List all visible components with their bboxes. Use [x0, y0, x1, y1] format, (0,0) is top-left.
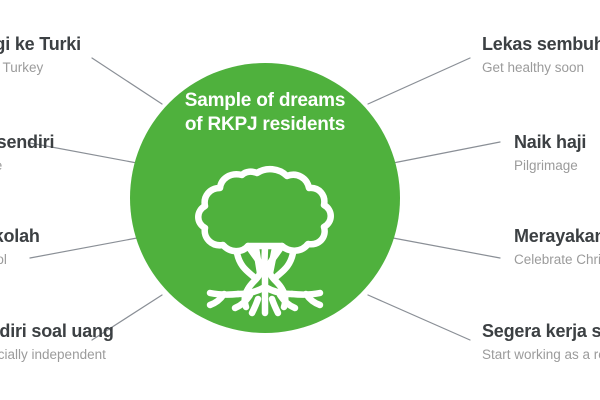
label-gloss: Go to Turkey	[0, 58, 81, 78]
label-gloss: Get healthy soon	[482, 58, 600, 78]
spoke-left-3	[30, 238, 137, 258]
label-right-1: Lekas sembuh Get healthy soon	[482, 33, 600, 78]
spoke-right-3	[393, 238, 500, 258]
label-left-3: Anak-anak sekolah Children go to school	[0, 225, 40, 270]
infographic-canvas: Sample of dreams of RKPJ residents	[0, 0, 600, 400]
label-left-1: Pergi ke Turki Go to Turkey	[0, 33, 81, 78]
label-term: Naik haji	[514, 131, 586, 153]
spoke-right-2	[393, 142, 500, 163]
label-gloss: Start working as a regular job	[482, 345, 600, 365]
label-gloss: Have my own house	[0, 156, 54, 176]
label-term: Merayakan Natal	[514, 225, 600, 247]
label-term: Anak-anak sekolah	[0, 225, 40, 247]
label-term: Pergi ke Turki	[0, 33, 81, 55]
label-term: Lekas sembuh	[482, 33, 600, 55]
hub-title-line-2: of RKPJ residents	[185, 114, 345, 135]
label-gloss: Celebrate Christmas	[514, 250, 600, 270]
spoke-right-4	[368, 295, 470, 340]
label-right-4: Segera kerja seperti dulu Start working …	[482, 320, 600, 365]
hub-title: Sample of dreams of RKPJ residents	[130, 89, 400, 137]
label-gloss: Financially independent	[0, 345, 114, 365]
label-left-4: Mandiri soal uang Financially independen…	[0, 320, 114, 365]
label-gloss: Children go to school	[0, 250, 40, 270]
label-term: Segera kerja seperti dulu	[482, 320, 600, 342]
label-right-2: Naik haji Pilgrimage	[514, 131, 586, 176]
label-left-2: Punya rumah sendiri Have my own house	[0, 131, 54, 176]
label-right-3: Merayakan Natal Celebrate Christmas	[514, 225, 600, 270]
hub-title-line-1: Sample of dreams	[185, 90, 345, 111]
label-gloss: Pilgrimage	[514, 156, 586, 176]
tree-icon	[180, 155, 350, 320]
label-term: Mandiri soal uang	[0, 320, 114, 342]
label-term: Punya rumah sendiri	[0, 131, 54, 153]
center-hub: Sample of dreams of RKPJ residents	[130, 63, 400, 333]
